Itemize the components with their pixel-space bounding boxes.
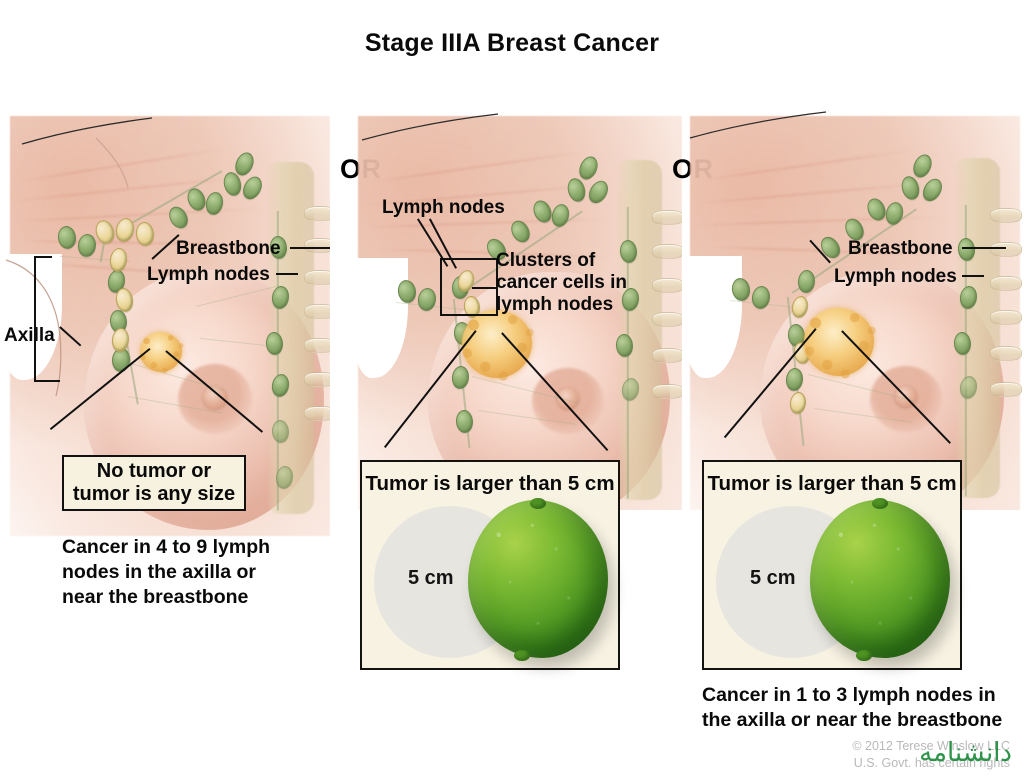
lime-stem-nub	[872, 498, 888, 509]
leader-lymph-nodes	[962, 275, 984, 277]
rib	[304, 206, 330, 221]
panel-right: Breastbone Lymph nodes Tumor is larger t…	[684, 0, 1024, 780]
label-lymph-nodes: Lymph nodes	[382, 197, 505, 219]
reference-circle-label: 5 cm	[408, 567, 454, 590]
lime-fruit	[468, 500, 608, 658]
rib	[652, 384, 682, 399]
axilla-bracket-bottom	[34, 380, 60, 382]
inset-right: Tumor is larger than 5 cm 5 cm	[702, 460, 962, 670]
illustration-canvas: Stage IIIA Breast Cancer	[0, 0, 1024, 780]
rib	[652, 210, 682, 225]
rib	[304, 304, 330, 319]
inset-middle: Tumor is larger than 5 cm 5 cm	[360, 460, 620, 670]
reference-circle-label: 5 cm	[750, 567, 796, 590]
rib	[304, 406, 330, 421]
label-axilla: Axilla	[4, 325, 55, 347]
label-clusters-l3: lymph nodes	[496, 294, 613, 316]
rib	[990, 382, 1022, 397]
caption-right: Cancer in 1 to 3 lymph nodes in the axil…	[702, 683, 1024, 733]
label-clusters-l1: Clusters of	[496, 250, 595, 272]
inset-title: Tumor is larger than 5 cm	[362, 472, 618, 496]
leader-clusters	[472, 287, 496, 289]
callout-left: No tumor or tumor is any size	[62, 455, 246, 511]
leader-breastbone	[290, 247, 330, 249]
rib	[652, 244, 682, 259]
label-clusters-l2: cancer cells in	[496, 272, 627, 294]
panel-left: Breastbone Lymph nodes Axilla No tumor o…	[0, 0, 330, 780]
rib	[304, 338, 330, 353]
caption-right-line1: Cancer in 1 to 3 lymph nodes in	[702, 684, 996, 706]
axilla-bracket-top	[34, 256, 52, 258]
watermark-logo: دانشنامه	[919, 738, 1012, 768]
caption-left-line3: near the breastbone	[62, 586, 248, 608]
lime-fruit	[810, 500, 950, 658]
caption-left: Cancer in 4 to 9 lymph nodes in the axil…	[62, 535, 322, 609]
lime-blossom-nub	[856, 650, 872, 661]
tumor-mass	[462, 310, 532, 378]
rib	[652, 348, 682, 363]
rib	[652, 312, 682, 327]
rib	[304, 238, 330, 253]
callout-left-line2: tumor is any size	[73, 483, 235, 505]
rib	[304, 270, 330, 285]
leader-breastbone	[962, 247, 1006, 249]
callout-left-line1: No tumor or	[97, 460, 211, 482]
lime-stem-nub	[530, 498, 546, 509]
axilla-bracket	[34, 256, 36, 382]
caption-right-line2: the axilla or near the breastbone	[702, 709, 1002, 731]
label-lymph-nodes: Lymph nodes	[147, 264, 270, 286]
rib	[990, 346, 1022, 361]
rib	[304, 372, 330, 387]
inset-title: Tumor is larger than 5 cm	[704, 472, 960, 496]
caption-left-line1: Cancer in 4 to 9 lymph	[62, 536, 270, 558]
label-lymph-nodes: Lymph nodes	[834, 266, 957, 288]
rib	[652, 278, 682, 293]
leader-lymph-nodes	[276, 273, 298, 275]
rib	[990, 310, 1022, 325]
caption-left-line2: nodes in the axilla or	[62, 561, 256, 583]
rib	[990, 276, 1022, 291]
lime-blossom-nub	[514, 650, 530, 661]
right-torso	[684, 110, 1024, 510]
label-breastbone: Breastbone	[848, 238, 953, 260]
panel-middle: Lymph nodes Clusters of cancer cells in …	[352, 0, 682, 780]
rib	[990, 208, 1022, 223]
tumor-mass	[804, 308, 874, 376]
rib	[990, 242, 1022, 257]
label-breastbone: Breastbone	[176, 238, 281, 260]
